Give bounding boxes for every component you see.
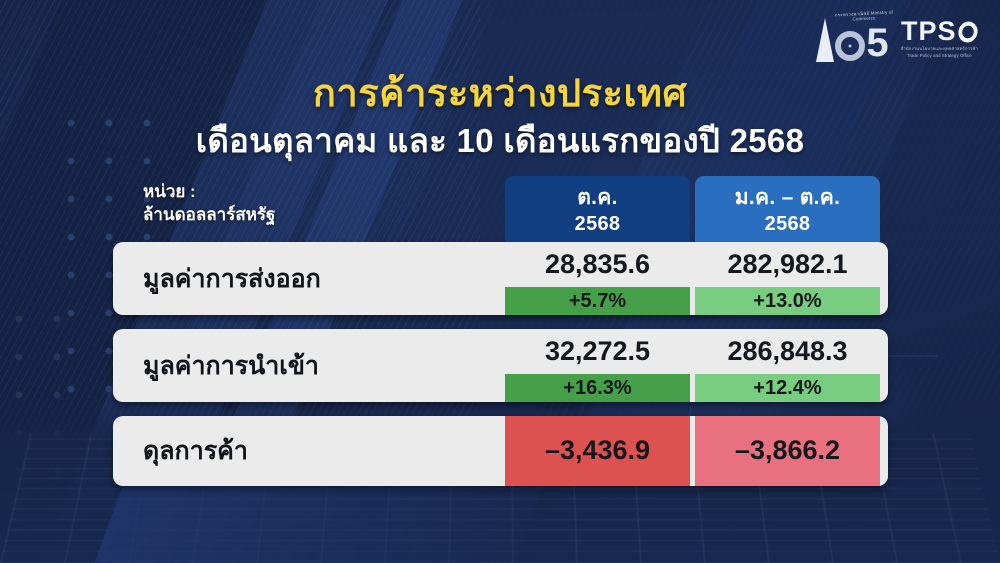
column-header-oct-month: ต.ค. [505, 185, 690, 211]
column-header-jan-oct: ม.ค. – ต.ค. 2568 [695, 176, 880, 242]
page-subtitle: เดือนตุลาคม และ 10 เดือนแรกของปี 2568 [0, 114, 1000, 167]
column-header-jan-oct-month: ม.ค. – ต.ค. [695, 185, 880, 211]
digit-five-glyph: 5 [866, 23, 886, 63]
cell-export-oct-value: 28,835.6 [505, 242, 690, 287]
cell-balance-jan-oct-value: –3,866.2 [695, 416, 880, 486]
table-row: มูลค่าการส่งออก 28,835.6 +5.7% 282,982.1… [113, 242, 888, 315]
anniversary-105-logo: กระทรวงพาณิชย์ Ministry of Commerce 5 [816, 12, 886, 64]
cell-export-oct: 28,835.6 +5.7% [505, 242, 690, 315]
trade-summary-table: หน่วย : ล้านดอลลาร์สหรัฐ ต.ค. 2568 ม.ค. … [113, 176, 888, 500]
table-row: ดุลการค้า –3,436.9 –3,866.2 [113, 416, 888, 486]
cell-export-jan-oct-change: +13.0% [695, 287, 880, 315]
digit-one-icon [816, 18, 834, 62]
cell-export-jan-oct: 282,982.1 +13.0% [695, 242, 880, 315]
column-header-oct: ต.ค. 2568 [505, 176, 690, 242]
tpso-o-ring-icon [955, 18, 980, 46]
column-header-jan-oct-year: 2568 [695, 211, 880, 237]
cell-import-oct-value: 32,272.5 [505, 329, 690, 374]
table-header-row: ต.ค. 2568 ม.ค. – ต.ค. 2568 [113, 176, 888, 242]
table-header-spacer [113, 176, 505, 242]
cell-export-oct-change: +5.7% [505, 287, 690, 315]
column-header-oct-year: 2568 [505, 211, 690, 237]
row-label-import: มูลค่าการนำเข้า [113, 329, 505, 402]
cell-import-jan-oct-value: 286,848.3 [695, 329, 880, 374]
row-label-balance: ดุลการค้า [113, 416, 505, 486]
row-label-export: มูลค่าการส่งออก [113, 242, 505, 315]
cell-import-jan-oct-change: +12.4% [695, 374, 880, 402]
table-row: มูลค่าการนำเข้า 32,272.5 +16.3% 286,848.… [113, 329, 888, 402]
digit-zero-wheel-icon [835, 31, 865, 61]
infographic-slide: กระทรวงพาณิชย์ Ministry of Commerce 5 TP… [0, 0, 1000, 563]
tpso-subtitle-en: Trade Policy and Strategy Office [907, 53, 972, 58]
cell-import-oct: 32,272.5 +16.3% [505, 329, 690, 402]
cell-balance-oct: –3,436.9 [505, 416, 690, 486]
tpso-wordmark: TPS [901, 18, 978, 45]
cell-import-oct-change: +16.3% [505, 374, 690, 402]
logo-row: กระทรวงพาณิชย์ Ministry of Commerce 5 TP… [816, 12, 978, 64]
cell-balance-jan-oct: –3,866.2 [695, 416, 880, 486]
cell-balance-oct-value: –3,436.9 [505, 416, 690, 486]
tpso-logo: TPS สำนักงานนโยบายและยุทธศาสตร์การค้า Tr… [901, 18, 978, 58]
tpso-letters: TPS [901, 18, 957, 45]
tpso-subtitle-th: สำนักงานนโยบายและยุทธศาสตร์การค้า [901, 46, 978, 51]
cell-import-jan-oct: 286,848.3 +12.4% [695, 329, 880, 402]
cell-export-jan-oct-value: 282,982.1 [695, 242, 880, 287]
